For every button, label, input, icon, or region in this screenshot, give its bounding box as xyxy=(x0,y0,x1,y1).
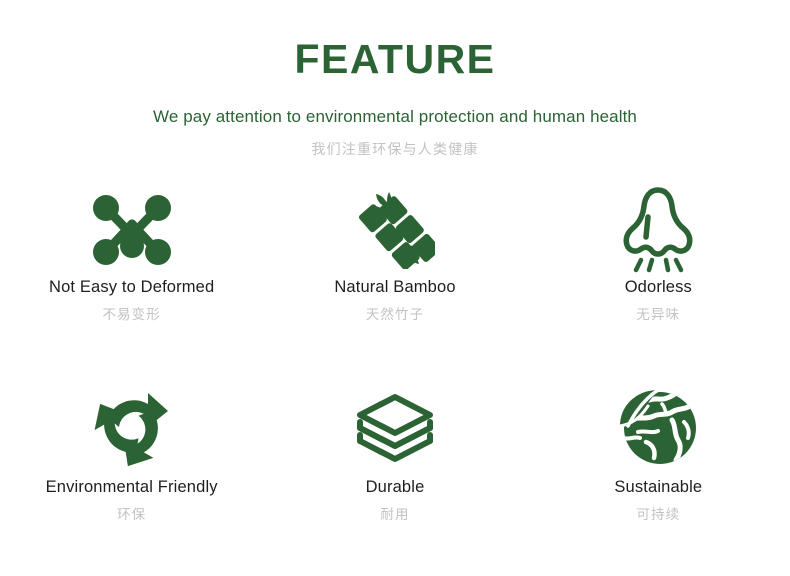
layers-stack-icon xyxy=(354,377,436,477)
page-title: FEATURE xyxy=(0,0,790,81)
feature-item-not-easy-to-deformed: Not Easy to Deformed 不易变形 xyxy=(0,181,263,377)
feature-label-en: Environmental Friendly xyxy=(46,479,218,496)
subtitle-english: We pay attention to environmental protec… xyxy=(0,81,790,127)
feature-item-sustainable: Sustainable 可持续 xyxy=(527,377,790,573)
recycle-icon xyxy=(91,377,173,477)
feature-label-en: Not Easy to Deformed xyxy=(49,279,214,296)
feature-grid: Not Easy to Deformed 不易变形 xyxy=(0,181,790,573)
feature-label-cn: 环保 xyxy=(117,509,146,523)
feature-label-en: Natural Bamboo xyxy=(334,279,455,296)
feature-item-durable: Durable 耐用 xyxy=(263,377,526,573)
feature-label-cn: 耐用 xyxy=(380,509,409,523)
bamboo-icon xyxy=(355,181,435,277)
feature-label-cn: 不易变形 xyxy=(102,309,160,323)
globe-leaf-icon xyxy=(616,377,700,477)
feature-label-en: Durable xyxy=(366,479,425,496)
nose-icon xyxy=(620,181,696,277)
feature-item-natural-bamboo: Natural Bamboo 天然竹子 xyxy=(263,181,526,377)
feature-item-environmental-friendly: Environmental Friendly 环保 xyxy=(0,377,263,573)
feature-label-cn: 天然竹子 xyxy=(366,309,424,323)
section-header: FEATURE We pay attention to environmenta… xyxy=(0,0,790,159)
feature-item-odorless: Odorless 无异味 xyxy=(527,181,790,377)
molecule-nodes-icon xyxy=(92,181,172,277)
feature-label-cn: 可持续 xyxy=(636,509,680,523)
feature-label-en: Sustainable xyxy=(614,479,702,496)
feature-label-cn: 无异味 xyxy=(636,309,680,323)
subtitle-chinese: 我们注重环保与人类健康 xyxy=(0,127,790,159)
feature-label-en: Odorless xyxy=(625,279,692,296)
feature-section: FEATURE We pay attention to environmenta… xyxy=(0,0,790,576)
